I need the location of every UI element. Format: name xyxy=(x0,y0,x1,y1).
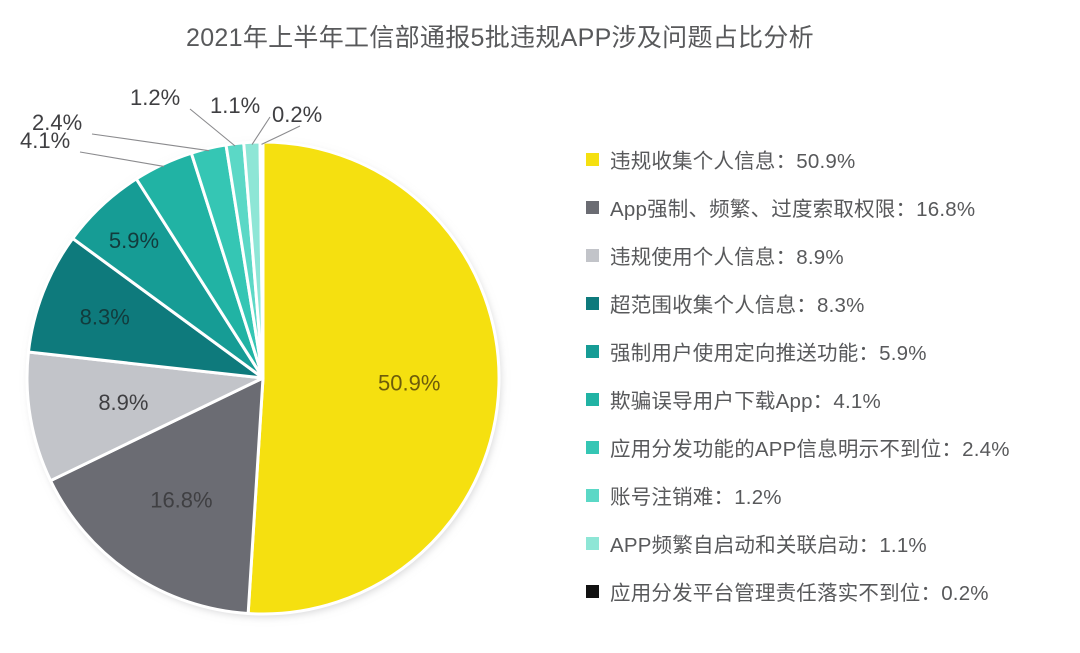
pie-callout-label: 0.2% xyxy=(272,102,322,127)
legend-color-swatch xyxy=(586,585,599,598)
pie-callout-label: 1.1% xyxy=(210,93,260,118)
pie-slice-value-label: 5.9% xyxy=(109,228,159,253)
pie-slice-value-label: 50.9% xyxy=(378,371,440,396)
pie-callout-label: 1.2% xyxy=(130,85,180,110)
pie-leader-line xyxy=(80,152,164,166)
legend-item[interactable]: 欺骗误导用户下载App：4.1% xyxy=(586,375,1076,423)
legend-item-label: 超范围收集个人信息：8.3% xyxy=(610,288,865,318)
legend-item[interactable]: 应用分发平台管理责任落实不到位：0.2% xyxy=(586,567,1076,615)
pie-slice-value-label: 16.8% xyxy=(150,487,212,512)
legend-color-swatch xyxy=(586,393,599,406)
legend-item-label: 欺骗误导用户下载App：4.1% xyxy=(610,384,881,414)
chart-page: 2021年上半年工信部通报5批违规APP涉及问题占比分析 50.9%16.8%8… xyxy=(0,0,1080,653)
pie-slice-value-label: 8.3% xyxy=(80,304,130,329)
legend-item[interactable]: 违规使用个人信息：8.9% xyxy=(586,231,1076,279)
pie-chart-area: 50.9%16.8%8.9%8.3%5.9% 4.1%2.4%1.2%1.1%0… xyxy=(0,60,560,653)
legend-item-label: APP频繁自启动和关联启动：1.1% xyxy=(610,528,927,558)
legend-color-swatch xyxy=(586,537,599,550)
legend-color-swatch xyxy=(586,297,599,310)
legend-item-label: 违规使用个人信息：8.9% xyxy=(610,240,844,270)
legend-item[interactable]: 强制用户使用定向推送功能：5.9% xyxy=(586,327,1076,375)
legend-item[interactable]: 超范围收集个人信息：8.3% xyxy=(586,279,1076,327)
page-title: 2021年上半年工信部通报5批违规APP涉及问题占比分析 xyxy=(0,18,1000,54)
pie-leader-line xyxy=(92,134,209,151)
pie-slice[interactable] xyxy=(248,142,499,614)
legend-item-label: 账号注销难：1.2% xyxy=(610,480,782,510)
legend-item[interactable]: 违规收集个人信息：50.9% xyxy=(586,135,1076,183)
pie-chart-svg: 50.9%16.8%8.9%8.3%5.9% 4.1%2.4%1.2%1.1%0… xyxy=(0,60,560,653)
legend-color-swatch xyxy=(586,249,599,262)
legend-color-swatch xyxy=(586,489,599,502)
legend-item-label: 应用分发平台管理责任落实不到位：0.2% xyxy=(610,576,989,606)
legend-item-label: 违规收集个人信息：50.9% xyxy=(610,144,855,174)
pie-slice-value-label: 8.9% xyxy=(98,390,148,415)
legend-item-label: 应用分发功能的APP信息明示不到位：2.4% xyxy=(610,432,1010,462)
legend-color-swatch xyxy=(586,153,599,166)
legend-color-swatch xyxy=(586,345,599,358)
legend-item[interactable]: App强制、频繁、过度索取权限：16.8% xyxy=(586,183,1076,231)
chart-legend: 违规收集个人信息：50.9%App强制、频繁、过度索取权限：16.8%违规使用个… xyxy=(586,135,1076,615)
legend-color-swatch xyxy=(586,441,599,454)
legend-item-label: App强制、频繁、过度索取权限：16.8% xyxy=(610,192,975,222)
legend-item-label: 强制用户使用定向推送功能：5.9% xyxy=(610,336,927,366)
pie-callout-label: 2.4% xyxy=(32,110,82,135)
legend-item[interactable]: APP频繁自启动和关联启动：1.1% xyxy=(586,519,1076,567)
legend-item[interactable]: 账号注销难：1.2% xyxy=(586,471,1076,519)
legend-item[interactable]: 应用分发功能的APP信息明示不到位：2.4% xyxy=(586,423,1076,471)
legend-color-swatch xyxy=(586,201,599,214)
pie-leader-line xyxy=(252,117,270,145)
